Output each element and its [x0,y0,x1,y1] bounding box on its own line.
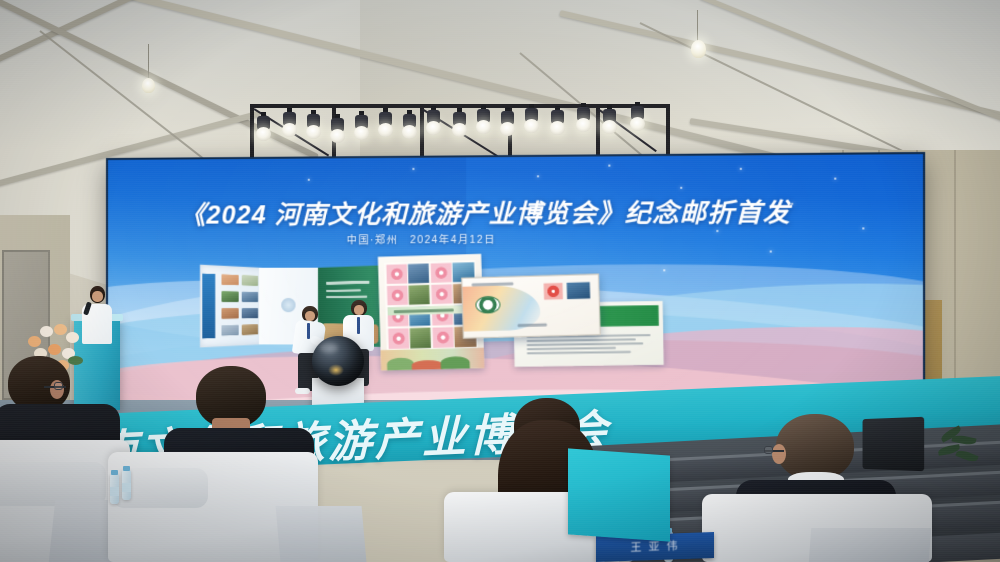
stage-lamp [630,106,645,130]
bulb-wire-right [697,10,698,42]
staff-left-lanyard [307,323,310,339]
stamp-flower [431,284,452,305]
led-screen-subtitle: 中国·郑州 2024年4月12日 [347,231,496,247]
booklet-spine-strip [202,273,215,338]
hanging-bulb-right [691,40,706,58]
ball-highlight [320,343,338,353]
sparkle [608,165,610,167]
stage-lamp [282,112,297,136]
booklet-thumbnail [221,291,238,302]
cover-address-line [518,323,547,327]
stamp-photo [408,263,429,284]
stamp-flower [432,327,453,347]
sparkle [770,250,772,252]
bottle-cap [123,466,130,471]
stage-lamp [426,110,441,134]
stage-lamp [550,110,565,134]
flower-petal [28,336,41,347]
bottle-label [122,483,131,492]
footer-hill [387,358,414,371]
booklet-headline [326,281,370,285]
bottle-cap [111,470,118,475]
truss-post [666,104,670,160]
seat-cloth-center [276,506,367,562]
water-bottle [122,470,131,500]
truss-post [250,104,254,160]
hanging-bulb-left [142,78,155,93]
bulb-wire-left [148,44,149,80]
truss-post [420,104,424,160]
stage-lamp [476,109,491,133]
stamp-flower [386,285,407,305]
stamp-flower [386,264,407,285]
footer-hill [441,356,470,369]
staff-right-lanyard [357,317,360,334]
flower-petal [40,326,53,337]
plant-leaf [955,448,978,464]
card-text-lines [527,334,651,356]
stage-lamp [402,114,417,138]
sparkle [412,168,414,170]
flower-petal [54,324,67,335]
stamp-sheet-footer-art [381,348,485,371]
staff-right-face [354,305,364,315]
booklet-thumbnail [221,274,238,285]
guest-front-left-glasses [44,386,66,388]
booklet-thumbnail [242,308,259,318]
booklet-line [326,289,361,292]
water-bottle [110,474,119,504]
flower-petal [48,344,61,355]
stage-lamp [330,118,345,142]
footer-hill [412,360,443,370]
flower-petal [66,332,79,343]
sparkle [740,168,742,170]
stage-lamp [602,109,617,133]
event-photo-scene: 《2024 河南文化和旅游产业博览会》纪念邮折首发 中国·郑州 2024年4月1… [0,0,1000,562]
ball-gold-glint [328,364,344,376]
stage-lamp [500,111,515,135]
stage-lamp [256,116,271,140]
guest-front-far-right-glasses [764,450,784,452]
sparkle [834,178,836,180]
truss-post [596,104,600,160]
guest-front-far-right-ear [772,444,786,464]
booklet-thumbnail [221,325,238,336]
stamp-photo [409,284,430,305]
ceremony-ball [312,336,364,386]
stage-lamp [354,115,369,139]
stamp-photo [410,327,431,347]
cover-stamp-photo [567,282,591,299]
booklet-thumbnail [242,324,259,335]
stamp-flower [388,328,409,348]
booklet-line [326,296,368,298]
seat-cloth-far-right [809,528,931,562]
booklet-page-left [200,265,263,348]
stage-lamp [524,108,539,132]
stage-lamp [452,112,467,136]
guest-front-far-right-head [776,414,854,480]
sparkle [308,179,310,181]
glasses-lens [54,382,63,390]
side-monitor-panel [568,448,670,541]
bottle-label [110,487,119,496]
host-face [92,291,103,302]
sparkle [537,175,539,177]
stamp-flower [430,262,451,283]
sparkle [716,230,718,232]
stage-lamp [576,107,591,131]
cover-stamp-flower [544,283,563,300]
booklet-thumbnail [242,275,259,286]
sparkle [680,187,682,189]
booklet-thumbnail [221,308,238,319]
first-day-cover [461,274,601,339]
led-screen-title: 《2024 河南文化和旅游产业博览会》纪念邮折首发 [180,192,890,232]
stage-lamp [378,112,393,136]
glasses-lens [764,446,773,454]
stage-lamp [306,114,321,138]
booklet-thumbnail [242,292,259,302]
potted-plant [934,430,994,520]
